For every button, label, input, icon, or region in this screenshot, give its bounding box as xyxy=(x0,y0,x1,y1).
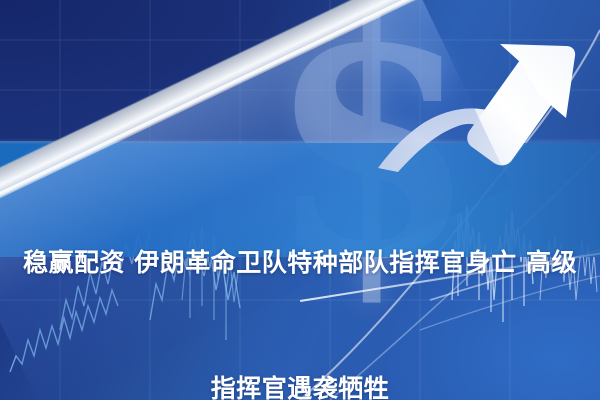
news-banner-image: $ 稳赢配资 伊朗革命卫队特种部队指挥官身亡 高级 指挥官遇袭牺牲 xyxy=(0,0,600,400)
page-title: 稳赢配资 伊朗革命卫队特种部队指挥官身亡 高级 指挥官遇袭牺牲 xyxy=(0,158,600,400)
headline-line-2: 指挥官遇袭牺牲 xyxy=(6,368,594,400)
headline-line-1: 稳赢配资 伊朗革命卫队特种部队指挥官身亡 高级 xyxy=(6,242,594,284)
